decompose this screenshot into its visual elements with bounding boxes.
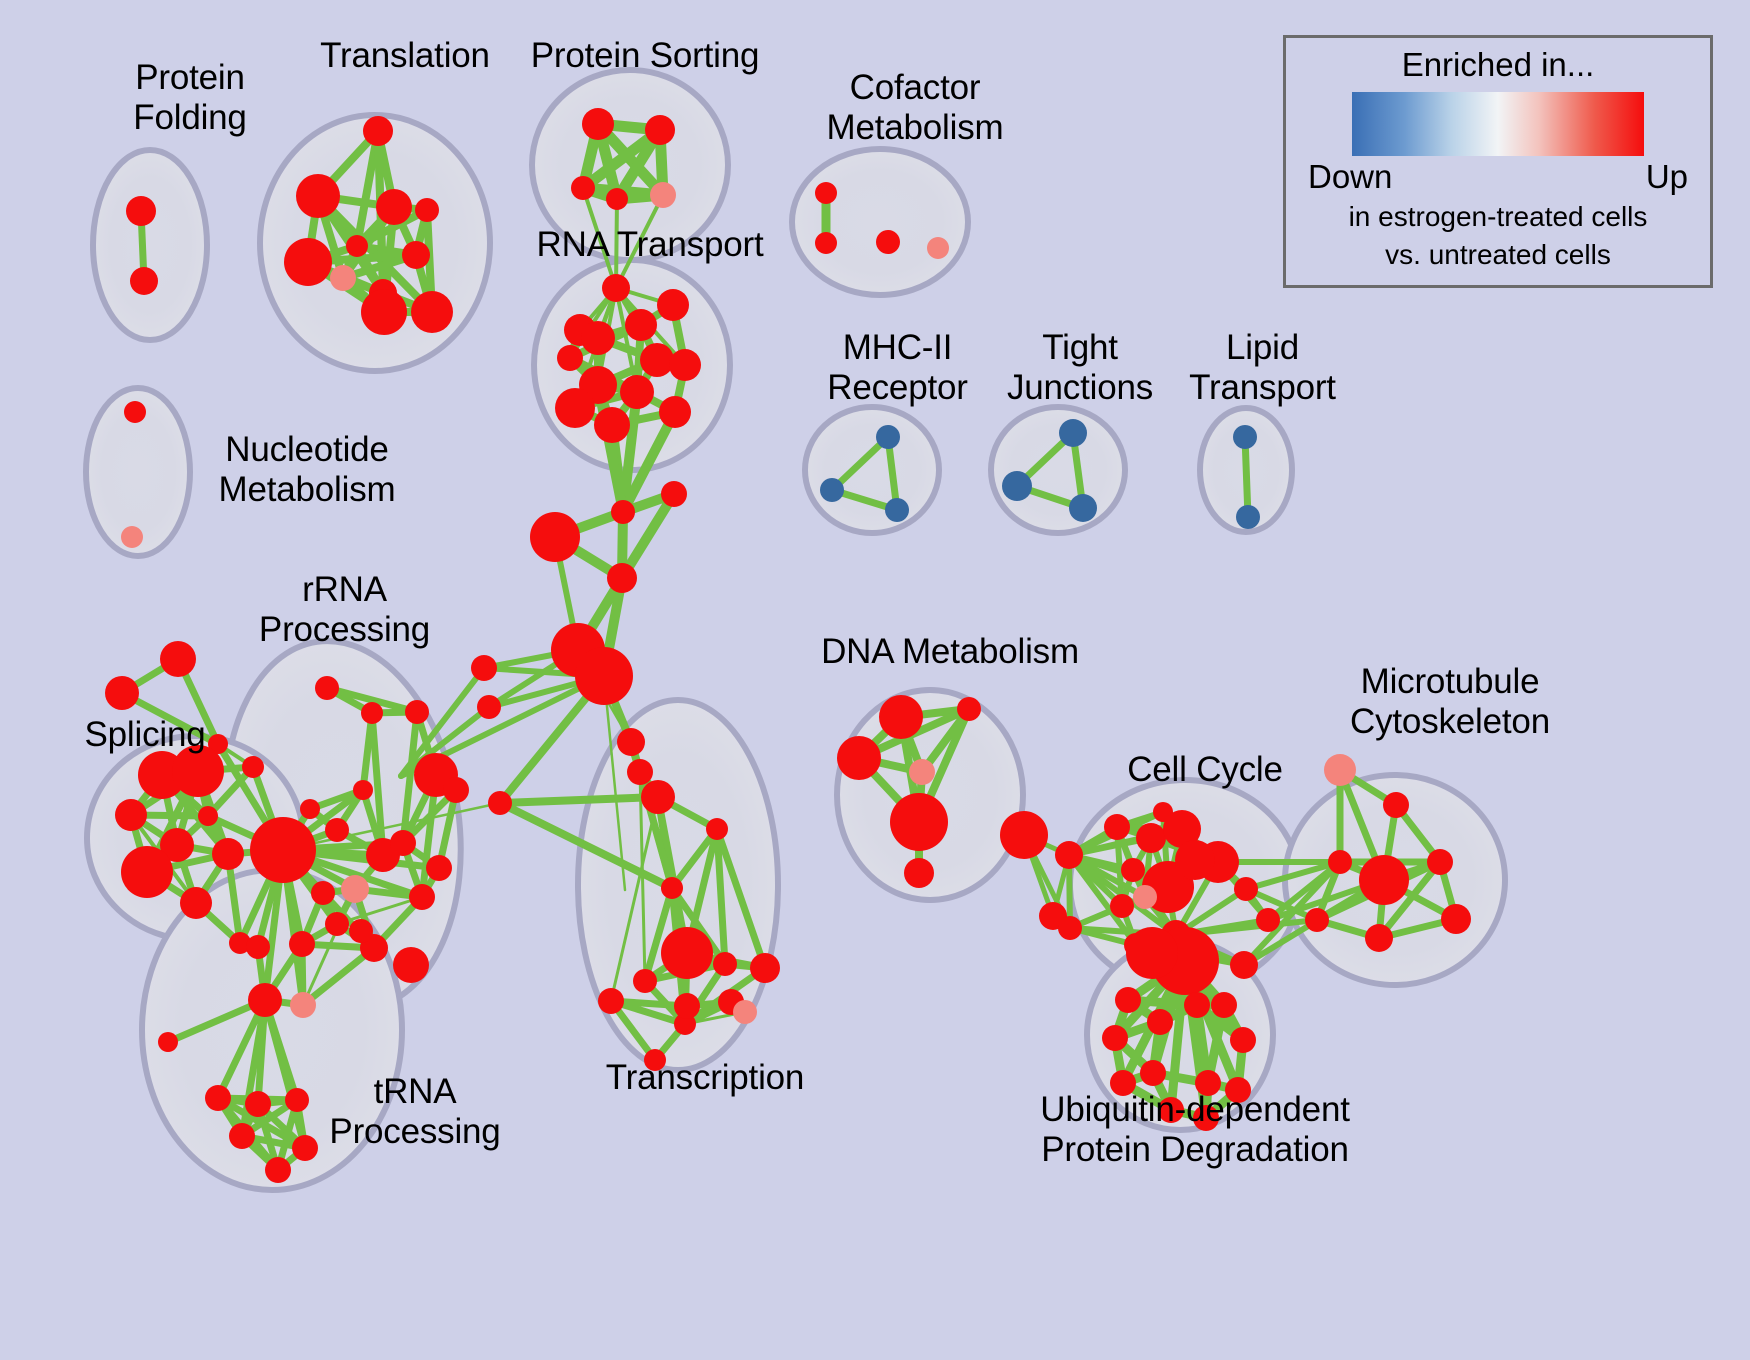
cluster-label-cell-cycle: Cell Cycle bbox=[1090, 750, 1320, 790]
legend-subtitle-line1: in estrogen-treated cells bbox=[1286, 200, 1710, 234]
cluster-label-nucleotide-metabolism: Nucleotide Metabolism bbox=[182, 430, 432, 510]
legend-panel: Enriched in... Down Up in estrogen-treat… bbox=[1283, 35, 1713, 288]
cluster-label-protein-sorting: Protein Sorting bbox=[500, 36, 790, 76]
cluster-label-lipid-transport: Lipid Transport bbox=[1160, 328, 1365, 408]
legend-subtitle-line2: vs. untreated cells bbox=[1286, 238, 1710, 272]
legend-title: Enriched in... bbox=[1286, 46, 1710, 84]
hull-mhc bbox=[805, 407, 939, 533]
cluster-label-tight-junctions: Tight Junctions bbox=[980, 328, 1180, 408]
cluster-label-translation: Translation bbox=[280, 36, 530, 76]
hull-protein-folding bbox=[93, 150, 207, 340]
legend-endpoints: Down Up bbox=[1286, 158, 1710, 196]
legend-up-label: Up bbox=[1646, 158, 1688, 196]
cluster-label-rrna-processing: rRNA Processing bbox=[237, 570, 452, 650]
cluster-label-ubiquitin-degradation: Ubiquitin-dependent Protein Degradation bbox=[985, 1090, 1405, 1170]
cluster-label-trna-processing: tRNA Processing bbox=[300, 1072, 530, 1152]
cluster-label-splicing: Splicing bbox=[55, 715, 235, 755]
legend-color-gradient-bar bbox=[1352, 92, 1644, 156]
cluster-label-cofactor-metabolism: Cofactor Metabolism bbox=[790, 68, 1040, 148]
enrichment-map-figure: Protein FoldingTranslationProtein Sortin… bbox=[0, 0, 1750, 1360]
hull-tight-junctions bbox=[991, 407, 1125, 533]
cluster-label-microtubule-cytoskeleton: Microtubule Cytoskeleton bbox=[1300, 662, 1600, 742]
cluster-label-mhc-ii-receptor: MHC-II Receptor bbox=[790, 328, 1005, 408]
cluster-label-rna-transport: RNA Transport bbox=[505, 225, 795, 265]
cluster-label-transcription: Transcription bbox=[560, 1058, 850, 1098]
legend-down-label: Down bbox=[1308, 158, 1392, 196]
hull-cofactor bbox=[792, 149, 968, 295]
cluster-label-dna-metabolism: DNA Metabolism bbox=[800, 632, 1100, 672]
cluster-label-protein-folding: Protein Folding bbox=[85, 58, 295, 138]
